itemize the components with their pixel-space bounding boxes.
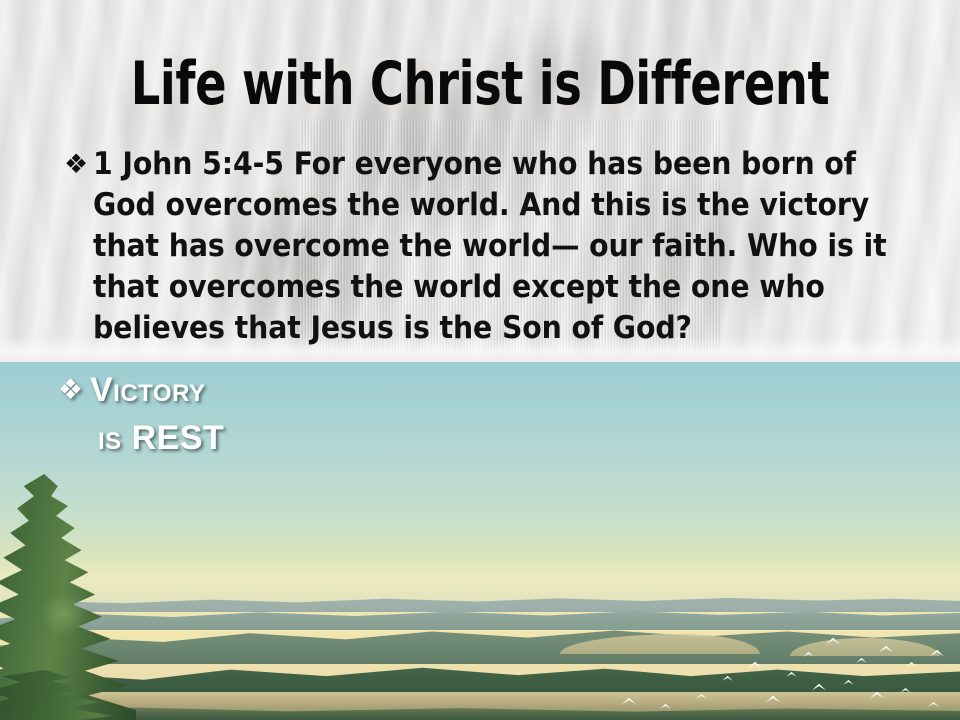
victory-label: Victory [90, 368, 206, 412]
scripture-row: ❖ 1 John 5:4-5 For everyone who has been… [64, 144, 894, 349]
victory-is-rest-block: ❖ Victory is REST [58, 368, 358, 460]
horizon-haze [0, 558, 960, 604]
conifer-tree [0, 474, 136, 720]
is-rest-label: is REST [98, 416, 358, 460]
victory-is-rest-row: ❖ Victory [58, 368, 358, 412]
scripture-text: 1 John 5:4-5 For everyone who has been b… [91, 144, 894, 349]
diamond-bullet-white-icon: ❖ [58, 368, 90, 412]
presentation-slide: Life with Christ is Different ❖ 1 John 5… [0, 0, 960, 720]
diamond-bullet-icon: ❖ [64, 144, 91, 185]
slide-title: Life with Christ is Different [67, 53, 893, 115]
scripture-bullet-block: ❖ 1 John 5:4-5 For everyone who has been… [64, 144, 894, 349]
